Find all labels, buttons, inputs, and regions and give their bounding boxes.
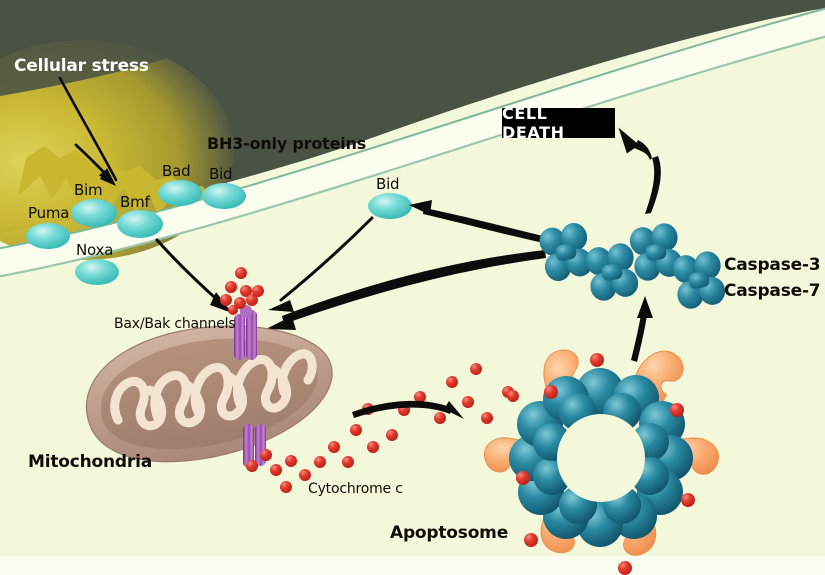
label-cytochrome-c: Cytochrome c: [308, 481, 403, 497]
protein-puma: [26, 223, 70, 249]
protein-bid-cleaved: [368, 193, 412, 219]
label-bh3-only-proteins: BH3-only proteins: [207, 134, 366, 153]
cell-death-label: CELL DEATH: [502, 104, 615, 142]
protein-bmf: [117, 210, 163, 238]
protein-bim: [71, 199, 117, 227]
protein-label-puma: Puma: [28, 204, 69, 222]
protein-label-noxa: Noxa: [76, 241, 113, 259]
label-caspase-7: Caspase-7: [724, 281, 820, 301]
protein-noxa: [75, 259, 119, 285]
label-bax-bak-channels: Bax/Bak channels: [114, 316, 235, 332]
protein-label-bid: Bid: [209, 165, 232, 183]
protein-label-bid-cleaved: Bid: [376, 175, 399, 193]
protein-label-bim: Bim: [74, 181, 102, 199]
protein-label-bmf: Bmf: [120, 193, 150, 211]
protein-label-bad: Bad: [162, 162, 190, 180]
protein-bid: [202, 183, 246, 209]
cell-death-badge: CELL DEATH: [502, 108, 615, 138]
figure-canvas: Cellular stress BH3-only proteins Puma B…: [0, 0, 825, 575]
protein-bad: [158, 180, 202, 206]
label-mitochondria: Mitochondria: [28, 452, 152, 472]
bottom-strip: [0, 556, 825, 575]
label-caspase-3: Caspase-3: [724, 255, 820, 275]
pathway-diagram: [0, 0, 825, 575]
label-cellular-stress: Cellular stress: [14, 56, 149, 76]
label-apoptosome: Apoptosome: [390, 523, 508, 543]
